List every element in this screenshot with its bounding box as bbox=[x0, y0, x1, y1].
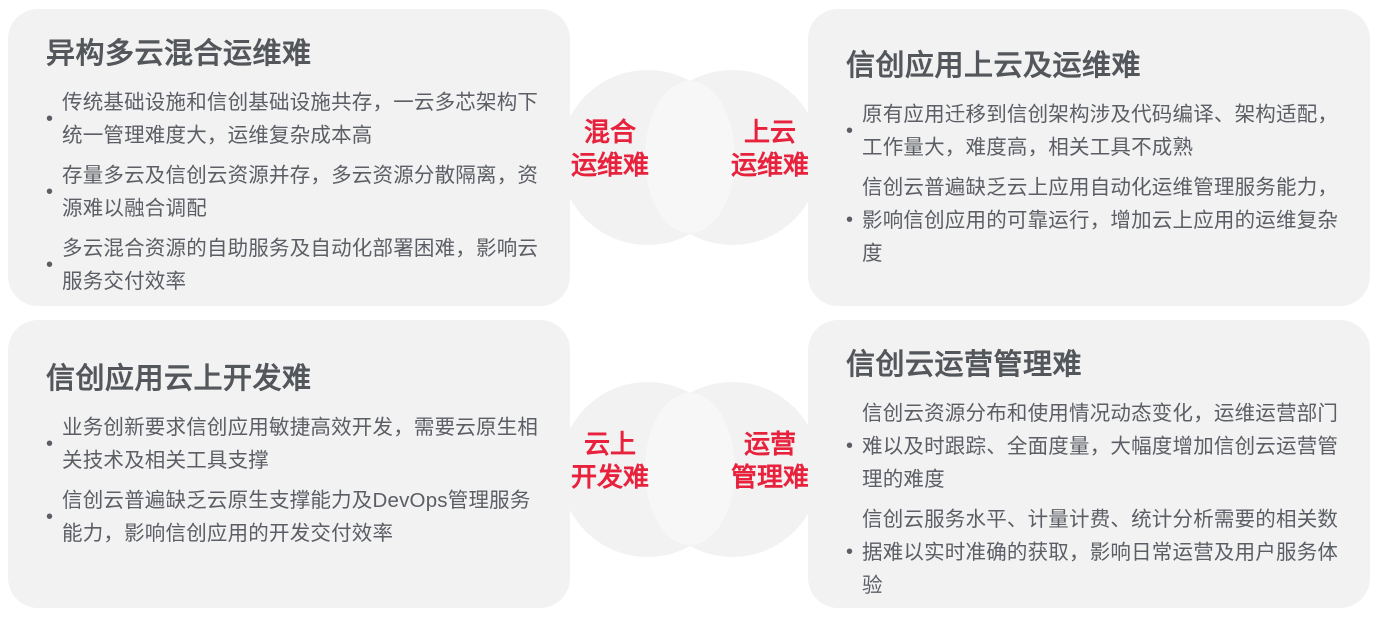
bullet-dot-icon: • bbox=[46, 182, 62, 202]
bullet-dot-icon: • bbox=[846, 436, 862, 456]
list-item-text: 原有应用迁移到信创架构涉及代码编译、架构适配，工作量大，难度高，相关工具不成熟 bbox=[862, 98, 1340, 164]
list-item-text: 信创云服务水平、计量计费、统计分析需要的相关数据难以实时准确的获取，影响日常运营… bbox=[862, 503, 1340, 602]
bullet-list: • 传统基础设施和信创基础设施共存，一云多芯架构下统一管理难度大，运维复杂成本高… bbox=[46, 86, 540, 298]
bullet-dot-icon: • bbox=[46, 109, 62, 129]
list-item: • 信创云普遍缺乏云上应用自动化运维管理服务能力，影响信创应用的可靠运行，增加云… bbox=[846, 171, 1340, 270]
panel-title: 信创应用上云及运维难 bbox=[846, 49, 1340, 84]
bullet-dot-icon: • bbox=[846, 210, 862, 230]
venn-diagram-top: 混合 运维难 上云 运维难 bbox=[560, 70, 820, 245]
list-item: • 业务创新要求信创应用敏捷高效开发，需要云原生相关技术及相关工具支撑 bbox=[46, 411, 540, 477]
panel-title: 信创云运营管理难 bbox=[846, 348, 1340, 383]
bullet-dot-icon: • bbox=[46, 434, 62, 454]
list-item: • 信创云普遍缺乏云原生支撑能力及DevOps管理服务能力，影响信创应用的开发交… bbox=[46, 484, 540, 550]
bullet-list: • 信创云资源分布和使用情况动态变化，运维运营部门难以及时跟踪、全面度量，大幅度… bbox=[846, 397, 1340, 602]
panel-cloud-operations-management: 信创云运营管理难 • 信创云资源分布和使用情况动态变化，运维运营部门难以及时跟踪… bbox=[808, 320, 1370, 608]
panel-app-migration-ops: 信创应用上云及运维难 • 原有应用迁移到信创架构涉及代码编译、架构适配，工作量大… bbox=[808, 9, 1370, 306]
list-item-text: 传统基础设施和信创基础设施共存，一云多芯架构下统一管理难度大，运维复杂成本高 bbox=[62, 86, 540, 152]
panel-title: 信创应用云上开发难 bbox=[46, 362, 540, 397]
bullet-dot-icon: • bbox=[846, 121, 862, 141]
list-item-text: 信创云普遍缺乏云上应用自动化运维管理服务能力，影响信创应用的可靠运行，增加云上应… bbox=[862, 171, 1340, 270]
bullet-dot-icon: • bbox=[46, 255, 62, 275]
list-item: • 多云混合资源的自助服务及自动化部署困难，影响云服务交付效率 bbox=[46, 232, 540, 298]
list-item: • 信创云资源分布和使用情况动态变化，运维运营部门难以及时跟踪、全面度量，大幅度… bbox=[846, 397, 1340, 496]
list-item-text: 存量多云及信创云资源并存，多云资源分散隔离，资源难以融合调配 bbox=[62, 159, 540, 225]
panel-cloud-native-development: 信创应用云上开发难 • 业务创新要求信创应用敏捷高效开发，需要云原生相关技术及相… bbox=[8, 320, 570, 608]
panel-title: 异构多云混合运维难 bbox=[46, 37, 540, 72]
panel-heterogeneous-multicloud-ops: 异构多云混合运维难 • 传统基础设施和信创基础设施共存，一云多芯架构下统一管理难… bbox=[8, 9, 570, 306]
bullet-list: • 原有应用迁移到信创架构涉及代码编译、架构适配，工作量大，难度高，相关工具不成… bbox=[846, 98, 1340, 270]
bullet-dot-icon: • bbox=[846, 542, 862, 562]
list-item: • 存量多云及信创云资源并存，多云资源分散隔离，资源难以融合调配 bbox=[46, 159, 540, 225]
list-item-text: 多云混合资源的自助服务及自动化部署困难，影响云服务交付效率 bbox=[62, 232, 540, 298]
list-item-text: 信创云资源分布和使用情况动态变化，运维运营部门难以及时跟踪、全面度量，大幅度增加… bbox=[862, 397, 1340, 496]
bullet-dot-icon: • bbox=[46, 507, 62, 527]
list-item: • 传统基础设施和信创基础设施共存，一云多芯架构下统一管理难度大，运维复杂成本高 bbox=[46, 86, 540, 152]
venn-diagram-bottom: 云上 开发难 运营 管理难 bbox=[560, 382, 820, 557]
list-item: • 原有应用迁移到信创架构涉及代码编译、架构适配，工作量大，难度高，相关工具不成… bbox=[846, 98, 1340, 164]
infographic-canvas: 异构多云混合运维难 • 传统基础设施和信创基础设施共存，一云多芯架构下统一管理难… bbox=[0, 0, 1378, 620]
list-item-text: 业务创新要求信创应用敏捷高效开发，需要云原生相关技术及相关工具支撑 bbox=[62, 411, 540, 477]
bullet-list: • 业务创新要求信创应用敏捷高效开发，需要云原生相关技术及相关工具支撑 • 信创… bbox=[46, 411, 540, 550]
list-item: • 信创云服务水平、计量计费、统计分析需要的相关数据难以实时准确的获取，影响日常… bbox=[846, 503, 1340, 602]
list-item-text: 信创云普遍缺乏云原生支撑能力及DevOps管理服务能力，影响信创应用的开发交付效… bbox=[62, 484, 540, 550]
